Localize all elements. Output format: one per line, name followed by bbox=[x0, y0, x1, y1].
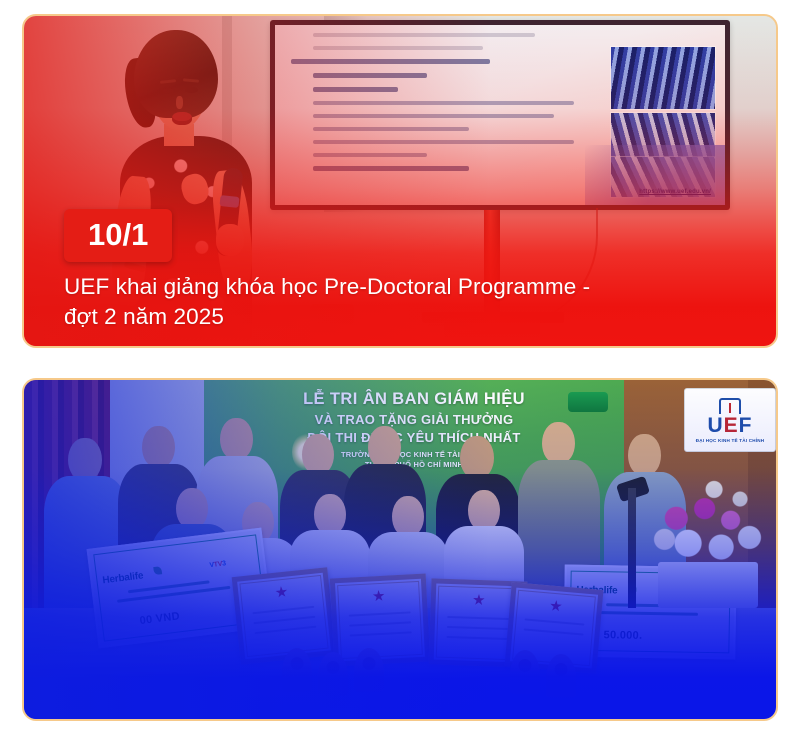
card-1-headline[interactable]: UEF khai giảng khóa học Pre-Doctoral Pro… bbox=[64, 272, 736, 332]
card-2-gradient-overlay bbox=[24, 380, 776, 719]
news-card-1[interactable]: https://www.uef.edu.vn/ bbox=[22, 14, 778, 348]
card-1-headline-line-2: đợt 2 năm 2025 bbox=[64, 302, 736, 331]
date-badge-card-1[interactable]: 10/1 bbox=[64, 209, 172, 262]
card-2-photo: LỄ TRI ÂN BAN GIÁM HIỆU VÀ TRAO TẶNG GIẢ… bbox=[24, 380, 776, 719]
news-card-2[interactable]: LỄ TRI ÂN BAN GIÁM HIỆU VÀ TRAO TẶNG GIẢ… bbox=[22, 378, 778, 721]
news-card-list: https://www.uef.edu.vn/ bbox=[0, 0, 800, 735]
card-1-headline-line-1: UEF khai giảng khóa học Pre-Doctoral Pro… bbox=[64, 272, 736, 301]
card-2-gradient-side bbox=[24, 380, 490, 719]
